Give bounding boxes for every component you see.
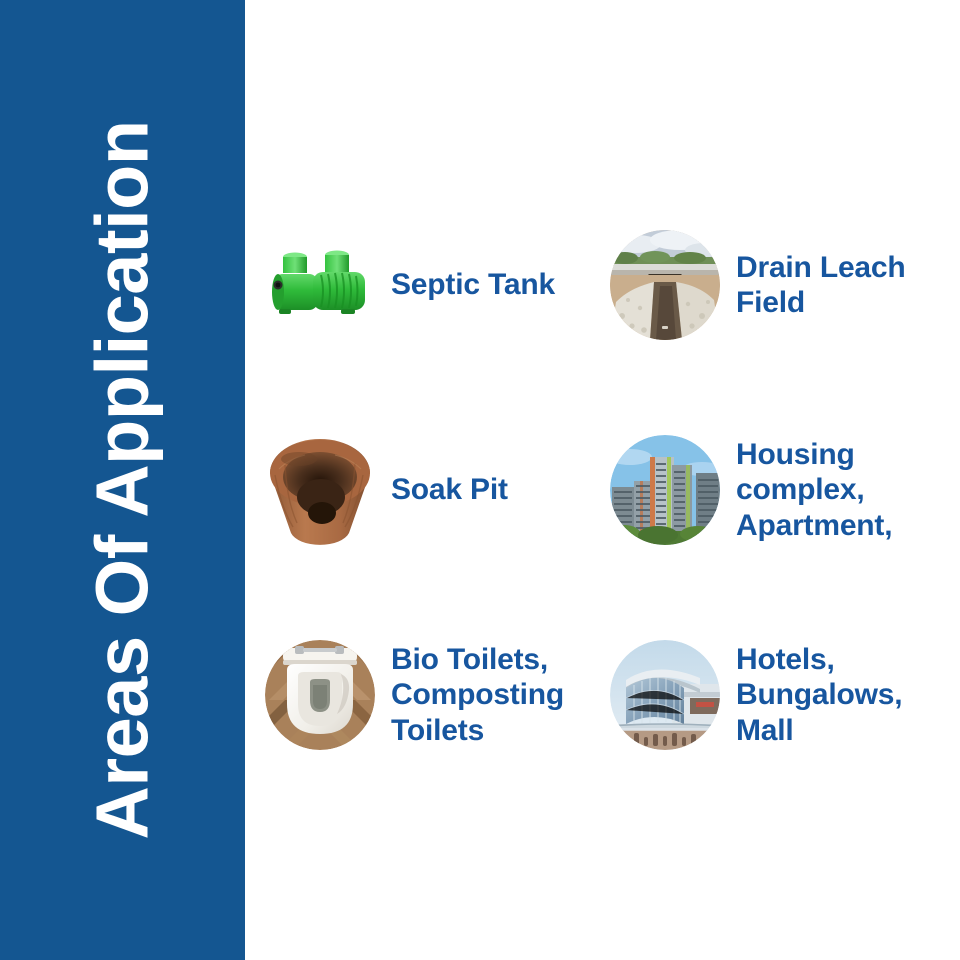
sidebar-title-container: Areas Of Application <box>0 0 245 960</box>
list-item-label: Soak Pit <box>391 472 508 507</box>
list-item-septic-tank[interactable]: Septic Tank <box>265 185 610 385</box>
application-areas-grid: Septic Tank <box>265 185 955 795</box>
bio-toilet-icon <box>265 640 375 750</box>
mall-building-icon <box>610 640 720 750</box>
soak-pit-icon <box>265 435 375 545</box>
list-item-housing-complex[interactable]: Housing complex, Apartment, <box>610 385 955 595</box>
drain-leach-field-icon <box>610 230 720 340</box>
sidebar-panel: Areas Of Application <box>0 0 245 960</box>
list-item-label: Hotels, Bungalows, Mall <box>736 642 902 748</box>
page-title: Areas Of Application <box>86 120 160 839</box>
list-item-label: Septic Tank <box>391 267 555 302</box>
list-item-bio-toilets[interactable]: Bio Toilets, Composting Toilets <box>265 595 610 795</box>
list-item-soak-pit[interactable]: Soak Pit <box>265 385 610 595</box>
list-item-hotels-mall[interactable]: Hotels, Bungalows, Mall <box>610 595 955 795</box>
list-item-label: Housing complex, Apartment, <box>736 437 892 543</box>
content-area: Septic Tank <box>245 0 960 960</box>
list-item-label: Bio Toilets, Composting Toilets <box>391 642 564 748</box>
housing-complex-icon <box>610 435 720 545</box>
list-item-label: Drain Leach Field <box>736 250 906 321</box>
list-item-drain-leach-field[interactable]: Drain Leach Field <box>610 185 955 385</box>
septic-tank-icon <box>265 230 375 340</box>
